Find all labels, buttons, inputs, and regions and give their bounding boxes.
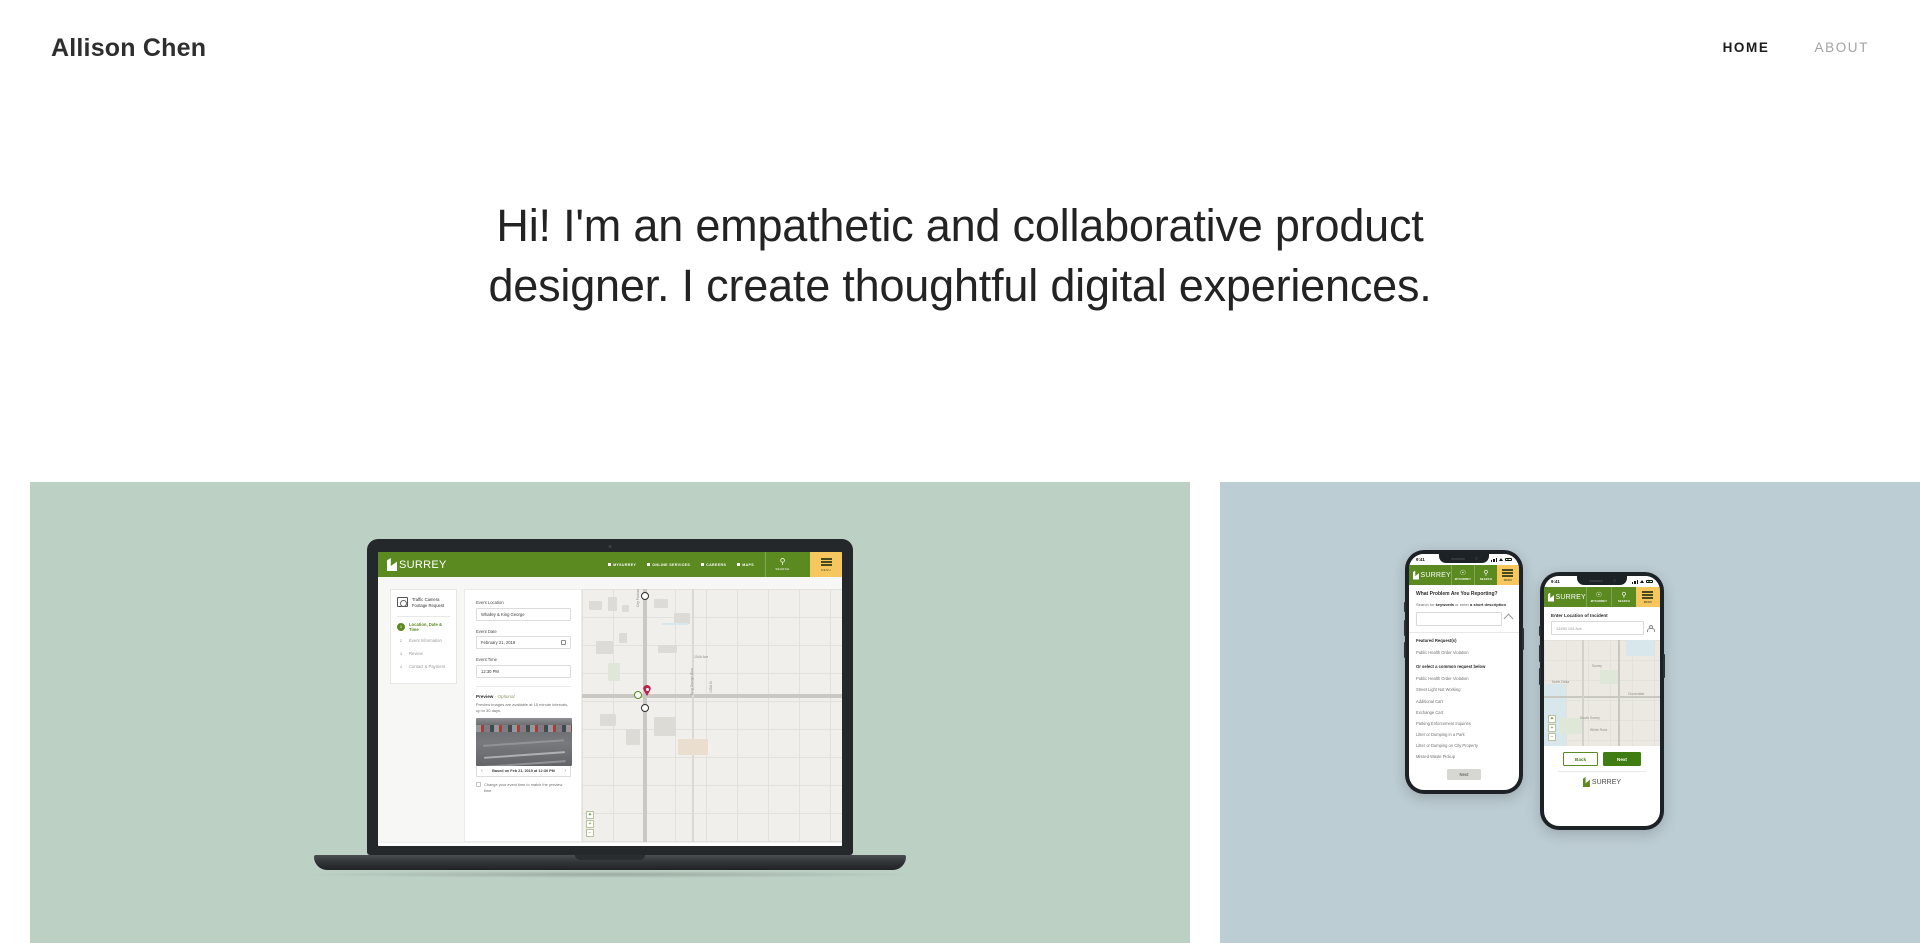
preview-caption: Based on Feb 21, 2019 at 12:30 PM bbox=[492, 769, 555, 773]
next-arrow-icon[interactable]: › bbox=[564, 768, 566, 774]
surrey-search-label: SEARCH bbox=[775, 567, 789, 571]
surrey-nav-mysurrey-label: MYSURREY bbox=[613, 563, 636, 567]
back-button[interactable]: Back bbox=[1563, 752, 1598, 766]
step-number: 1 bbox=[397, 623, 405, 631]
phone-screen: 9:41 SURREY ☉ bbox=[1409, 554, 1519, 790]
search-icon: ⚲ bbox=[1483, 570, 1488, 577]
map-building bbox=[600, 714, 616, 726]
field-value: 12:30 PM bbox=[481, 669, 499, 674]
map-zoom-out-button[interactable]: − bbox=[586, 829, 594, 837]
search-icon: ⚲ bbox=[1621, 592, 1626, 599]
traffic-camera-marker[interactable] bbox=[641, 592, 649, 600]
surrey-logo-icon bbox=[1413, 571, 1419, 580]
phone-volume-down-button bbox=[1539, 668, 1541, 685]
incident-location-input[interactable]: 13450 104 Ave bbox=[1551, 621, 1644, 635]
location-input-row: 13450 104 Ave bbox=[1551, 621, 1653, 635]
person-icon bbox=[608, 563, 611, 566]
person-icon: ☉ bbox=[1596, 592, 1602, 599]
status-icons bbox=[1632, 580, 1653, 584]
pin-icon bbox=[737, 563, 740, 566]
phone-subtext: Search for keywords or enter a short des… bbox=[1416, 602, 1512, 608]
grid-icon bbox=[647, 563, 650, 566]
hamburger-icon bbox=[1502, 568, 1513, 578]
surrey-logo[interactable]: SURREY bbox=[1409, 565, 1451, 585]
phone-tab-mysurrey[interactable]: ☉ MYSURREY bbox=[1451, 565, 1474, 585]
event-date-input[interactable]: February 21, 2019 bbox=[476, 636, 571, 649]
list-item[interactable]: Exchange Cart bbox=[1416, 707, 1512, 718]
phone-tab-menu[interactable]: MENU bbox=[1636, 587, 1660, 607]
surrey-search-button[interactable]: ⚲ SEARCH bbox=[765, 552, 799, 577]
step-label: Contact & Payment bbox=[409, 664, 445, 669]
divider bbox=[476, 686, 571, 687]
phone-content: Enter Location of Incident 13450 104 Ave bbox=[1544, 607, 1660, 793]
map-city-label: North Delta bbox=[1552, 680, 1569, 684]
site-brand[interactable]: Allison Chen bbox=[51, 36, 206, 61]
surrey-logo-icon bbox=[1583, 777, 1590, 787]
step-item-3[interactable]: 3 Review bbox=[397, 650, 450, 658]
phone-tab-label: SEARCH bbox=[1618, 600, 1630, 603]
step-item-2[interactable]: 2 Event Information bbox=[397, 637, 450, 645]
map-zoom-out-button[interactable]: − bbox=[1548, 733, 1556, 741]
field-label: Event Location bbox=[476, 600, 571, 605]
laptop-shadow bbox=[305, 871, 915, 878]
form-footer: Back Next bbox=[378, 842, 842, 846]
map-park-area bbox=[1560, 718, 1582, 734]
phone-mockup-incident-location: 9:41 SURREY ☉ bbox=[1540, 572, 1664, 830]
laptop-camera-icon bbox=[609, 545, 612, 548]
phone-power-button bbox=[1522, 628, 1524, 650]
surrey-logo-icon bbox=[387, 558, 397, 571]
field-label: Event Time bbox=[476, 657, 571, 662]
phone-power-button bbox=[1663, 654, 1665, 678]
step-item-1[interactable]: 1 Location, Date & Time bbox=[397, 622, 450, 632]
map-street-label: City Parkway bbox=[636, 589, 640, 607]
surrey-logo-icon bbox=[1548, 593, 1554, 602]
surrey-nav: MYSURREY ONLINE SERVICES CAREERS MAPS ⚲ … bbox=[608, 552, 842, 577]
traffic-camera-marker-selected[interactable] bbox=[634, 691, 642, 699]
field-value: February 21, 2019 bbox=[481, 640, 515, 645]
field-event-time: Event Time 12:30 PM bbox=[476, 657, 571, 678]
work-card-traffic-camera[interactable]: SURREY MYSURREY ONLINE SERVICES CAREERS … bbox=[30, 482, 1190, 943]
map-building bbox=[596, 641, 613, 654]
field-label: Event Date bbox=[476, 629, 571, 634]
map-panel[interactable]: City Parkway 104A Ave King George Blvd 1… bbox=[582, 589, 842, 842]
nav-link-about[interactable]: ABOUT bbox=[1814, 41, 1869, 55]
laptop-mockup: SURREY MYSURREY ONLINE SERVICES CAREERS … bbox=[367, 539, 853, 878]
traffic-camera-marker[interactable] bbox=[641, 704, 649, 712]
phone-notch bbox=[1439, 554, 1489, 563]
preview-title-text: Preview bbox=[476, 694, 493, 699]
map-water bbox=[1626, 640, 1654, 656]
preview-nav: ‹ Based on Feb 21, 2019 at 12:30 PM › bbox=[476, 766, 571, 777]
status-time: 9:41 bbox=[1416, 557, 1425, 562]
subtext-prefix: Search for bbox=[1416, 602, 1436, 607]
step-label: Review bbox=[409, 651, 423, 656]
event-time-input[interactable]: 12:30 PM bbox=[476, 665, 571, 678]
phone-tab-label: MENU bbox=[1504, 579, 1512, 582]
phone-tab-label: MENU bbox=[1644, 601, 1652, 604]
subtext-suffix: . bbox=[1506, 602, 1507, 607]
map-building bbox=[626, 729, 640, 745]
phone-button-row: Back Next bbox=[1551, 746, 1653, 771]
map-street-label: 135A St bbox=[709, 681, 713, 693]
prev-arrow-icon[interactable]: ‹ bbox=[481, 768, 483, 774]
request-form: Event Location Whalley & King George Eve… bbox=[464, 589, 582, 842]
person-icon: ☉ bbox=[1460, 570, 1466, 577]
surrey-nav-mysurrey[interactable]: MYSURREY bbox=[608, 563, 636, 567]
list-item[interactable]: Public Health Order Violation bbox=[1416, 647, 1512, 658]
wifi-icon bbox=[1499, 558, 1503, 561]
surrey-nav-careers-label: CAREERS bbox=[706, 563, 726, 567]
laptop-base bbox=[314, 855, 906, 870]
match-preview-checkbox-row[interactable]: Change your event time to match the prev… bbox=[476, 782, 571, 794]
preview-note: Preview images are available at 15 minut… bbox=[476, 702, 571, 714]
phone-screen: 9:41 SURREY ☉ bbox=[1544, 576, 1660, 826]
search-icon: ⚲ bbox=[780, 558, 786, 566]
map-zoom-controls: ✦ + − bbox=[1548, 715, 1556, 742]
phone-volume-up-button bbox=[1404, 620, 1406, 636]
phone-topbar: SURREY ☉ MYSURREY ⚲ SEARCH MENU bbox=[1409, 565, 1519, 585]
next-button[interactable]: Next bbox=[1447, 769, 1480, 780]
camera-icon bbox=[397, 597, 408, 607]
phone-volume-up-button bbox=[1539, 645, 1541, 662]
hero-headline: Hi! I'm an empathetic and collaborative … bbox=[400, 196, 1520, 317]
site-header: Allison Chen HOME ABOUT bbox=[0, 0, 1920, 96]
speaker-icon bbox=[1451, 558, 1465, 560]
map-road-vertical bbox=[1582, 640, 1584, 746]
map-building-highlight bbox=[678, 739, 708, 755]
map-road-vertical bbox=[1618, 640, 1620, 746]
phone-content: What Problem Are You Reporting? Search f… bbox=[1409, 585, 1519, 785]
work-grid: SURREY MYSURREY ONLINE SERVICES CAREERS … bbox=[30, 482, 1920, 943]
list-item[interactable]: Litter or Dumping in a Park bbox=[1416, 729, 1512, 740]
map-road-minor bbox=[692, 589, 694, 842]
surrey-nav-online-services-label: ONLINE SERVICES bbox=[652, 563, 690, 567]
battery-icon bbox=[1646, 580, 1653, 584]
surrey-page-body: Traffic Camera Footage Request 1 Locatio… bbox=[378, 577, 842, 842]
map-zoom-in-button[interactable]: + bbox=[586, 820, 594, 828]
phone-heading: What Problem Are You Reporting? bbox=[1416, 591, 1512, 598]
phone-mute-button bbox=[1539, 626, 1541, 636]
phone-tab-menu[interactable]: MENU bbox=[1497, 565, 1519, 585]
preview-section-title: Preview - Optional bbox=[476, 694, 571, 699]
laptop-screen: SURREY MYSURREY ONLINE SERVICES CAREERS … bbox=[378, 552, 842, 846]
phone-topbar: SURREY ☉ MYSURREY ⚲ SEARCH MENU bbox=[1544, 587, 1660, 607]
map-road-horizontal bbox=[1544, 696, 1660, 698]
divider bbox=[397, 616, 450, 617]
surrey-logo-text: SURREY bbox=[399, 559, 447, 571]
work-card-report-problem[interactable]: 9:41 SURREY ☉ bbox=[1220, 482, 1920, 943]
surrey-nav-maps-label: MAPS bbox=[742, 563, 754, 567]
surrey-menu-button[interactable]: MENU bbox=[810, 552, 842, 577]
phone-tab-search[interactable]: ⚲ SEARCH bbox=[1611, 587, 1636, 607]
map-building bbox=[654, 717, 676, 736]
map-grid bbox=[582, 589, 842, 842]
hamburger-icon bbox=[821, 557, 832, 567]
surrey-logo-text: SURREY bbox=[1592, 779, 1621, 786]
map-building bbox=[622, 605, 629, 612]
phone-mockup-report-problem: 9:41 SURREY ☉ bbox=[1405, 550, 1523, 794]
signal-icon bbox=[1491, 558, 1497, 562]
list-item[interactable]: Litter or Dumping on City Property bbox=[1416, 740, 1512, 751]
surrey-nav-careers[interactable]: CAREERS bbox=[701, 563, 726, 567]
phone-search-row bbox=[1416, 612, 1512, 626]
list-item[interactable]: Street Light Not Working bbox=[1416, 684, 1512, 695]
chevron-up-icon[interactable] bbox=[1504, 614, 1514, 624]
main-nav: HOME ABOUT bbox=[1723, 41, 1869, 55]
map-street-label: King George Blvd bbox=[690, 668, 694, 695]
map-road-vertical bbox=[643, 589, 647, 842]
phone-heading: Enter Location of Incident bbox=[1551, 613, 1653, 618]
map-city-label: Surrey bbox=[1592, 664, 1602, 668]
phone-volume-down-button bbox=[1404, 642, 1406, 658]
laptop-lid: SURREY MYSURREY ONLINE SERVICES CAREERS … bbox=[367, 539, 853, 855]
divider bbox=[1409, 632, 1519, 633]
surrey-logo[interactable]: SURREY bbox=[387, 558, 447, 571]
map-city-label: White Rock bbox=[1590, 728, 1607, 732]
incident-map[interactable]: Surrey North Delta Cloverdale South Surr… bbox=[1544, 640, 1660, 746]
phone-tab-mysurrey[interactable]: ☉ MYSURREY bbox=[1586, 587, 1611, 607]
step-label: Location, Date & Time bbox=[409, 622, 450, 632]
map-locate-button[interactable]: ✦ bbox=[586, 811, 594, 819]
phone-notch bbox=[1577, 576, 1627, 585]
phone-mute-button bbox=[1404, 602, 1406, 612]
phone-button-row: Next bbox=[1416, 763, 1512, 785]
subtext-description: a short description bbox=[1470, 602, 1506, 607]
map-building bbox=[658, 645, 677, 653]
list-item[interactable]: Public Health Order Violation bbox=[1416, 673, 1512, 684]
steps-card-header: Traffic Camera Footage Request bbox=[397, 597, 450, 610]
phone-tab-search[interactable]: ⚲ SEARCH bbox=[1474, 565, 1497, 585]
phone-tab-label: MYSURREY bbox=[1591, 600, 1607, 603]
field-value: Whalley & King George bbox=[481, 612, 525, 617]
map-zoom-controls: ✦ + − bbox=[586, 811, 594, 838]
field-event-location: Event Location Whalley & King George bbox=[476, 600, 571, 621]
subtext-keywords: keywords bbox=[1436, 602, 1454, 607]
common-requests-title: Or select a common request below bbox=[1416, 664, 1512, 669]
step-number: 3 bbox=[397, 650, 405, 658]
map-zoom-in-button[interactable]: + bbox=[1548, 724, 1556, 732]
map-city-label: Cloverdale bbox=[1628, 692, 1644, 696]
list-item[interactable]: Missed Waste Pickup bbox=[1416, 751, 1512, 762]
status-time: 9:41 bbox=[1551, 579, 1560, 584]
checkbox-label: Change your event time to match the prev… bbox=[484, 782, 571, 794]
map-street-label: 104A Ave bbox=[694, 655, 708, 659]
map-park-area bbox=[1600, 670, 1618, 684]
hamburger-icon bbox=[1642, 590, 1653, 600]
event-location-input[interactable]: Whalley & King George bbox=[476, 608, 571, 621]
nav-link-home[interactable]: HOME bbox=[1723, 41, 1770, 55]
calendar-icon[interactable] bbox=[561, 640, 566, 645]
wifi-icon bbox=[1640, 580, 1644, 583]
steps-card: Traffic Camera Footage Request 1 Locatio… bbox=[390, 589, 457, 684]
front-camera-icon bbox=[1613, 579, 1616, 582]
laptop-base-notch bbox=[575, 855, 645, 860]
surrey-menu-label: MENU bbox=[821, 568, 831, 572]
map-water bbox=[662, 623, 688, 625]
map-park-area bbox=[608, 663, 620, 681]
map-locate-button[interactable]: ✦ bbox=[1548, 715, 1556, 723]
speaker-icon bbox=[1589, 580, 1603, 582]
surrey-nav-online-services[interactable]: ONLINE SERVICES bbox=[647, 563, 690, 567]
status-icons bbox=[1491, 558, 1512, 562]
surrey-logo[interactable]: SURREY bbox=[1544, 587, 1586, 607]
list-item[interactable]: Parking Enforcement Inquiries bbox=[1416, 718, 1512, 729]
featured-requests-title: Featured Request(s) bbox=[1416, 638, 1512, 643]
step-item-4[interactable]: 4 Contact & Payment bbox=[397, 663, 450, 671]
checkbox-icon[interactable] bbox=[476, 782, 481, 787]
surrey-nav-maps[interactable]: MAPS bbox=[737, 563, 754, 567]
surrey-logo-text: SURREY bbox=[1421, 572, 1451, 579]
map-city-label: South Surrey bbox=[1580, 716, 1600, 720]
steps-panel: Traffic Camera Footage Request 1 Locatio… bbox=[378, 577, 464, 842]
subtext-mid: or enter bbox=[1454, 602, 1470, 607]
map-building bbox=[619, 633, 627, 643]
briefcase-icon bbox=[701, 563, 704, 566]
signal-icon bbox=[1632, 580, 1638, 584]
step-label: Event Information bbox=[409, 638, 442, 643]
camera-preview-image[interactable] bbox=[476, 718, 572, 766]
map-building bbox=[654, 599, 668, 608]
map-building bbox=[589, 601, 602, 610]
preview-optional-text: - Optional bbox=[493, 694, 514, 699]
phone-mockups: 9:41 SURREY ☉ bbox=[1405, 550, 1735, 880]
map-building bbox=[608, 597, 617, 611]
field-event-date: Event Date February 21, 2019 bbox=[476, 629, 571, 650]
front-camera-icon bbox=[1475, 557, 1478, 560]
step-number: 2 bbox=[397, 637, 405, 645]
surrey-topbar: SURREY MYSURREY ONLINE SERVICES CAREERS … bbox=[378, 552, 842, 577]
phone-tab-label: MYSURREY bbox=[1455, 578, 1471, 581]
surrey-logo-text: SURREY bbox=[1556, 594, 1586, 601]
phone-search-input[interactable] bbox=[1416, 612, 1502, 626]
hero-section: Hi! I'm an empathetic and collaborative … bbox=[0, 196, 1920, 317]
steps-card-title: Traffic Camera Footage Request bbox=[412, 597, 450, 610]
phone-footer-logo[interactable]: SURREY bbox=[1551, 772, 1653, 793]
battery-icon bbox=[1505, 558, 1512, 562]
map-road-horizontal bbox=[582, 694, 842, 698]
next-button[interactable]: Next bbox=[1603, 752, 1641, 766]
step-number: 4 bbox=[397, 663, 405, 671]
list-item[interactable]: Additional Cart bbox=[1416, 695, 1512, 706]
phone-tab-label: SEARCH bbox=[1480, 578, 1492, 581]
locate-me-icon[interactable] bbox=[1647, 625, 1653, 632]
